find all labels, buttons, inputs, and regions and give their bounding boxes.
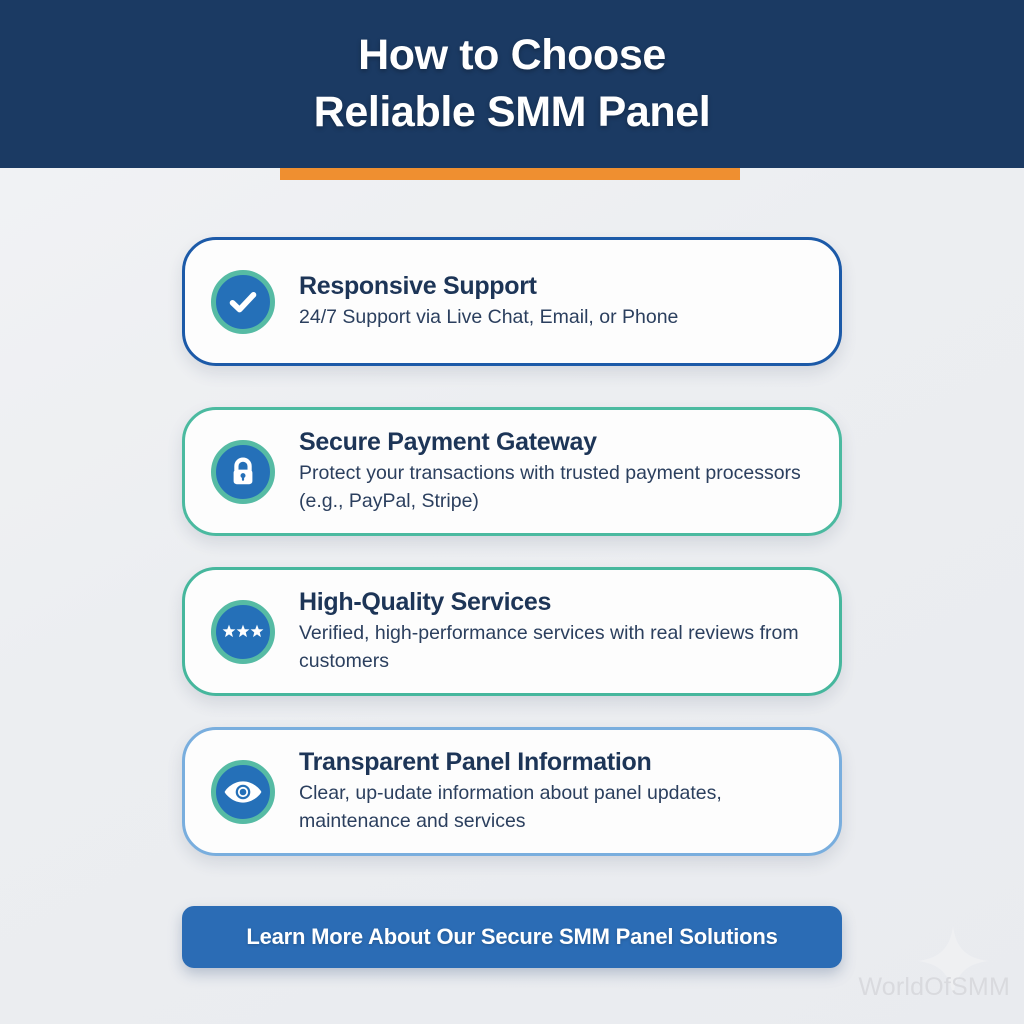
learn-more-cta-button[interactable]: Learn More About Our Secure SMM Panel So… xyxy=(182,906,842,968)
lock-icon xyxy=(211,440,275,504)
three-stars-icon xyxy=(211,600,275,664)
card-title: Transparent Panel Information xyxy=(299,747,813,777)
card-description: Protect your transactions with trusted p… xyxy=(299,460,813,515)
card-text-block: Responsive Support 24/7 Support via Live… xyxy=(299,271,813,332)
check-icon xyxy=(211,270,275,334)
card-title: High-Quality Services xyxy=(299,587,813,617)
feature-card-secure-payment-gateway[interactable]: Secure Payment Gateway Protect your tran… xyxy=(182,407,842,536)
card-text-block: Secure Payment Gateway Protect your tran… xyxy=(299,427,813,515)
eye-icon xyxy=(211,760,275,824)
accent-bar xyxy=(280,168,740,180)
card-description: Verified, high-performance services with… xyxy=(299,620,813,675)
cta-label: Learn More About Our Secure SMM Panel So… xyxy=(246,924,777,950)
feature-card-high-quality-services[interactable]: High-Quality Services Verified, high-per… xyxy=(182,567,842,696)
card-text-block: High-Quality Services Verified, high-per… xyxy=(299,587,813,675)
feature-card-list: Responsive Support 24/7 Support via Live… xyxy=(182,237,842,856)
card-description: 24/7 Support via Live Chat, Email, or Ph… xyxy=(299,304,813,332)
page-title-line-2: Reliable SMM Panel xyxy=(314,84,711,141)
card-description: Clear, up-udate information about panel … xyxy=(299,780,813,835)
feature-card-transparent-panel-information[interactable]: Transparent Panel Information Clear, up-… xyxy=(182,727,842,856)
header-banner: How to Choose Reliable SMM Panel xyxy=(0,0,1024,168)
feature-card-responsive-support[interactable]: Responsive Support 24/7 Support via Live… xyxy=(182,237,842,366)
card-title: Responsive Support xyxy=(299,271,813,301)
card-title: Secure Payment Gateway xyxy=(299,427,813,457)
sparkle-icon xyxy=(916,924,990,998)
card-text-block: Transparent Panel Information Clear, up-… xyxy=(299,747,813,835)
infographic-canvas: How to Choose Reliable SMM Panel Respons… xyxy=(0,0,1024,1024)
page-title-line-1: How to Choose xyxy=(358,27,666,84)
